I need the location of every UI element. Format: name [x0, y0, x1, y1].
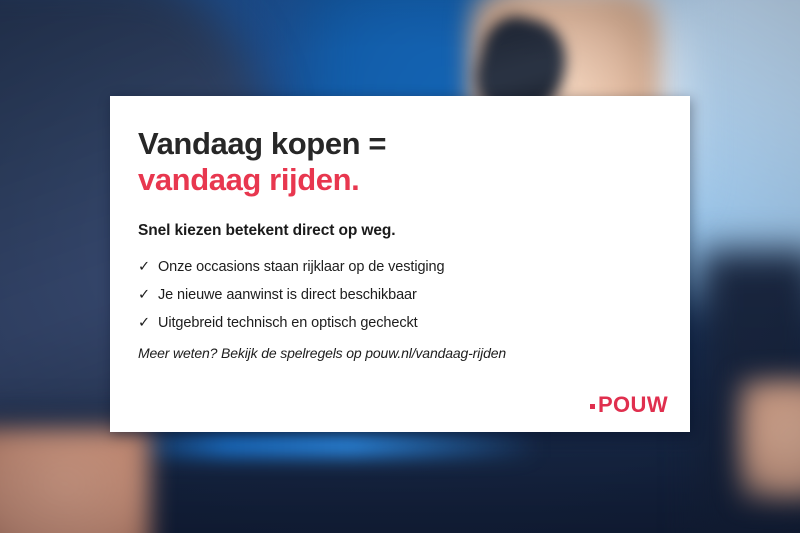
check-icon: ✓ — [138, 287, 158, 303]
brand-name: POUW — [598, 392, 668, 418]
list-item-label: Uitgebreid technisch en optisch gecheckt — [158, 315, 418, 331]
footnote-text: Meer weten? Bekijk de spelregels op pouw… — [138, 345, 654, 361]
benefits-list: ✓ Onze occasions staan rijklaar op de ve… — [138, 259, 654, 331]
headline-line-1: Vandaag kopen = — [138, 126, 654, 162]
list-item: ✓ Onze occasions staan rijklaar op de ve… — [138, 259, 654, 275]
headline-line-2: vandaag rijden. — [138, 162, 654, 198]
list-item-label: Je nieuwe aanwinst is direct beschikbaar — [158, 287, 417, 303]
check-icon: ✓ — [138, 259, 158, 275]
check-icon: ✓ — [138, 315, 158, 331]
list-item: ✓ Je nieuwe aanwinst is direct beschikba… — [138, 287, 654, 303]
promo-card: Vandaag kopen = vandaag rijden. Snel kie… — [110, 96, 690, 432]
promo-banner: Vandaag kopen = vandaag rijden. Snel kie… — [0, 0, 800, 533]
subheading: Snel kiezen betekent direct op weg. — [138, 222, 654, 240]
page-title: Vandaag kopen = vandaag rijden. — [138, 126, 654, 198]
list-item-label: Onze occasions staan rijklaar op de vest… — [158, 259, 444, 275]
square-dot-icon — [590, 404, 595, 409]
list-item: ✓ Uitgebreid technisch en optisch gechec… — [138, 315, 654, 331]
brand-logo: POUW — [590, 392, 668, 418]
